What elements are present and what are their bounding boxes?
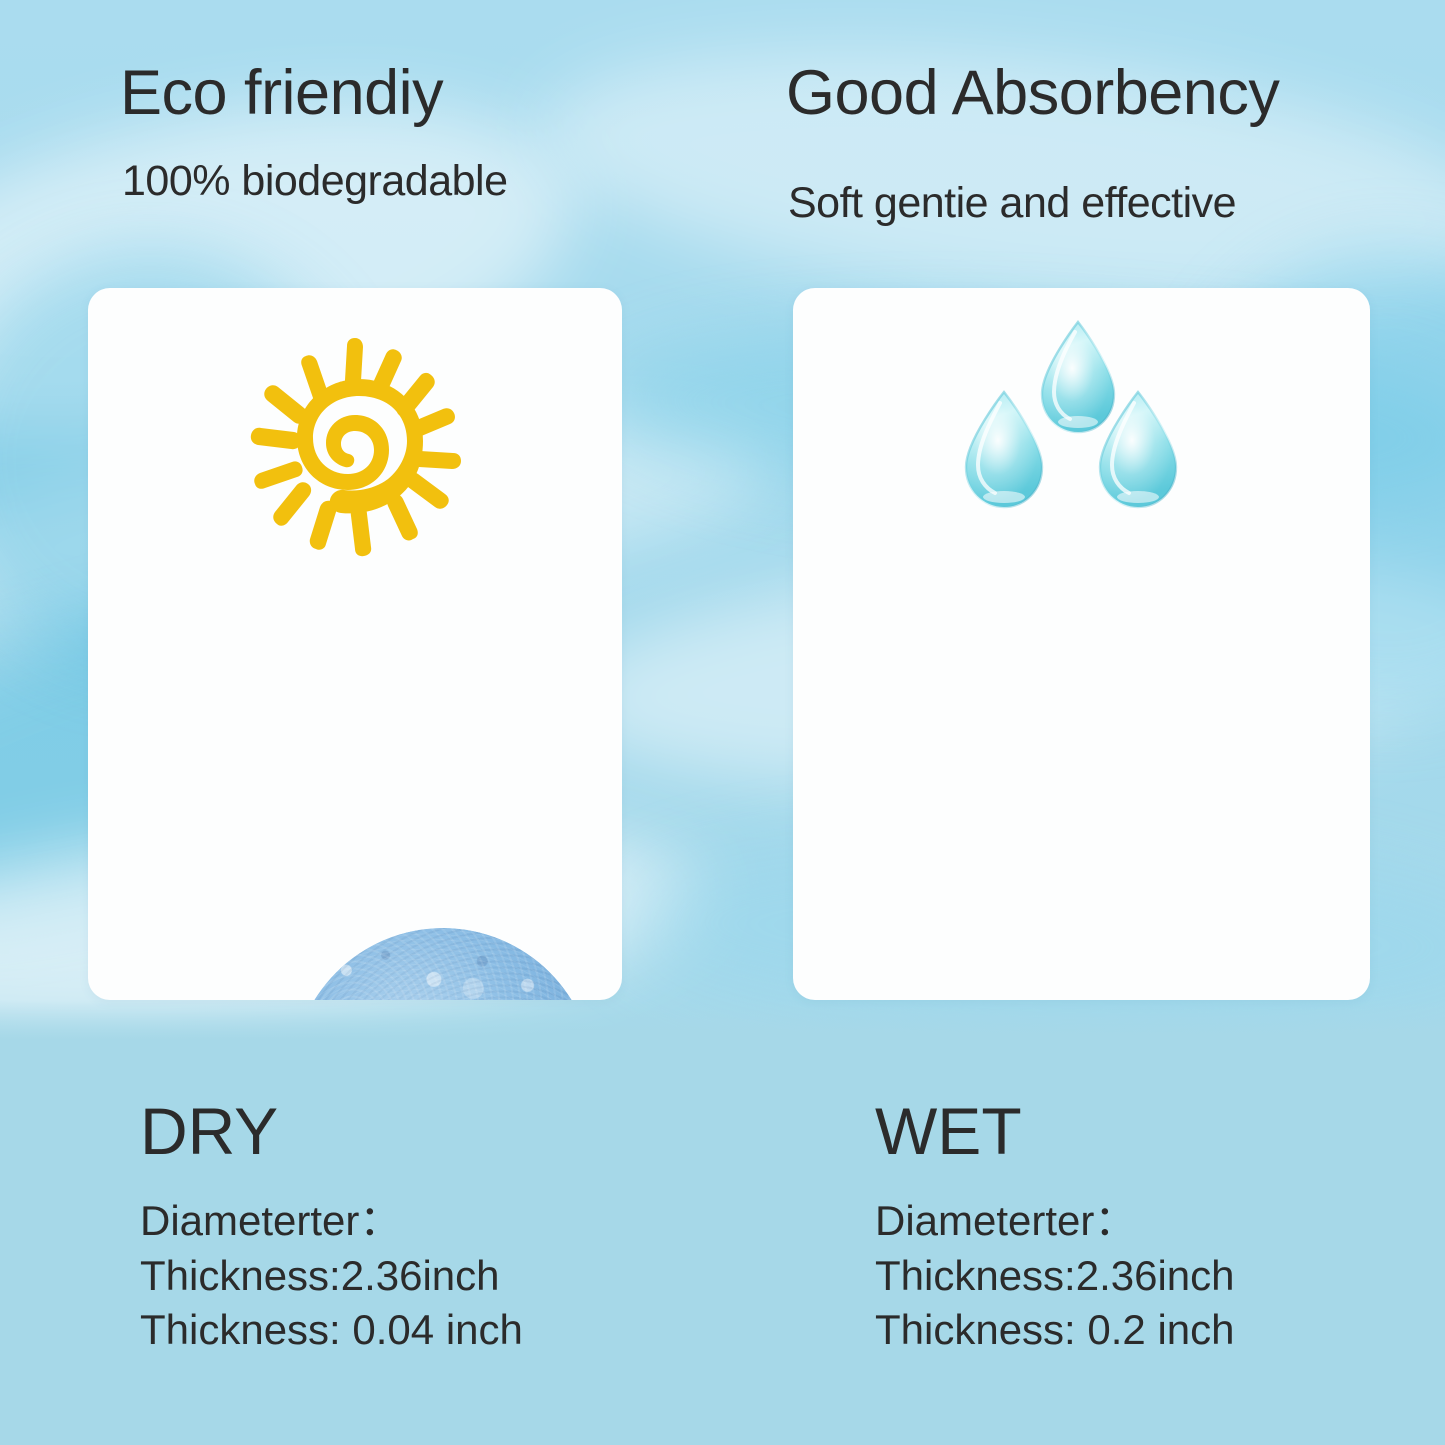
- dry-column-subtitle: 100% biodegradable: [122, 160, 508, 203]
- wet-column-title: Good Absorbency: [786, 62, 1279, 125]
- wet-spec-thickness-2: Thickness: 0.2 inch: [875, 1303, 1235, 1358]
- dry-spec-diameter: Diameterter：: [140, 1194, 523, 1249]
- water-drops-icon: [948, 318, 1208, 558]
- dry-state-label: DRY: [140, 1098, 523, 1164]
- dry-column-title: Eco friendiy: [120, 62, 443, 125]
- sponge-disc-dry: [292, 928, 594, 1000]
- dry-product-card: [88, 288, 622, 1000]
- wet-spec-block: WET Diameterter： Thickness:2.36inch Thic…: [875, 1098, 1235, 1358]
- dry-spec-block: DRY Diameterter： Thickness:2.36inch Thic…: [140, 1098, 523, 1358]
- wet-spec-diameter: Diameterter：: [875, 1194, 1235, 1249]
- wet-state-label: WET: [875, 1098, 1235, 1164]
- dry-spec-thickness-2: Thickness: 0.04 inch: [140, 1303, 523, 1358]
- wet-product-card: [793, 288, 1370, 1000]
- sun-icon: [233, 328, 483, 578]
- sponge-shading: [292, 928, 594, 1000]
- dry-spec-thickness-1: Thickness:2.36inch: [140, 1249, 523, 1304]
- wet-spec-thickness-1: Thickness:2.36inch: [875, 1249, 1235, 1304]
- wet-column-subtitle: Soft gentie and effective: [788, 182, 1236, 225]
- product-infographic: Eco friendiy 100% biodegradable: [0, 0, 1445, 1445]
